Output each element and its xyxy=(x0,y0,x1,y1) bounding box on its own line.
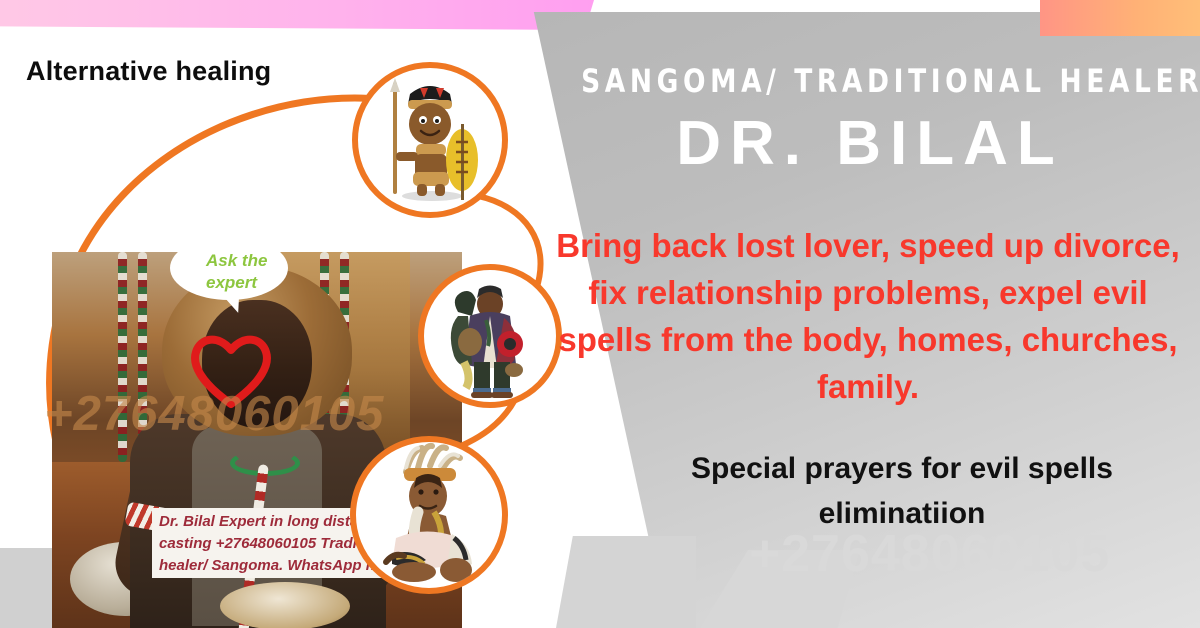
badge-crouching-warrior xyxy=(350,436,508,594)
offering-bowl xyxy=(220,582,350,628)
zulu-warrior-cartoon-icon xyxy=(358,68,502,212)
photo-watermark-phone: +27648060105 xyxy=(44,386,444,442)
salmon-top-band xyxy=(1040,0,1200,36)
doctor-name-headline: DR. BILAL xyxy=(556,108,1184,179)
traditional-healer-figure-icon xyxy=(424,270,556,402)
special-prayers-text: Special prayers for evil spells eliminat… xyxy=(612,446,1192,536)
kicker-headline: SANGOMA/ TRADITIONAL HEALER xyxy=(581,62,1159,100)
speech-bubble-label: Ask the expert xyxy=(206,250,310,294)
services-description: Bring back lost lover, speed up divorce,… xyxy=(538,222,1198,410)
badge-zulu-warrior xyxy=(352,62,508,218)
ghost-phone-number: +27648060105 xyxy=(660,524,1200,584)
crouching-warrior-figure-icon xyxy=(356,442,502,588)
poster-canvas: Alternative healing Ask the expert +2764… xyxy=(0,0,1200,628)
pink-top-band xyxy=(0,0,594,30)
